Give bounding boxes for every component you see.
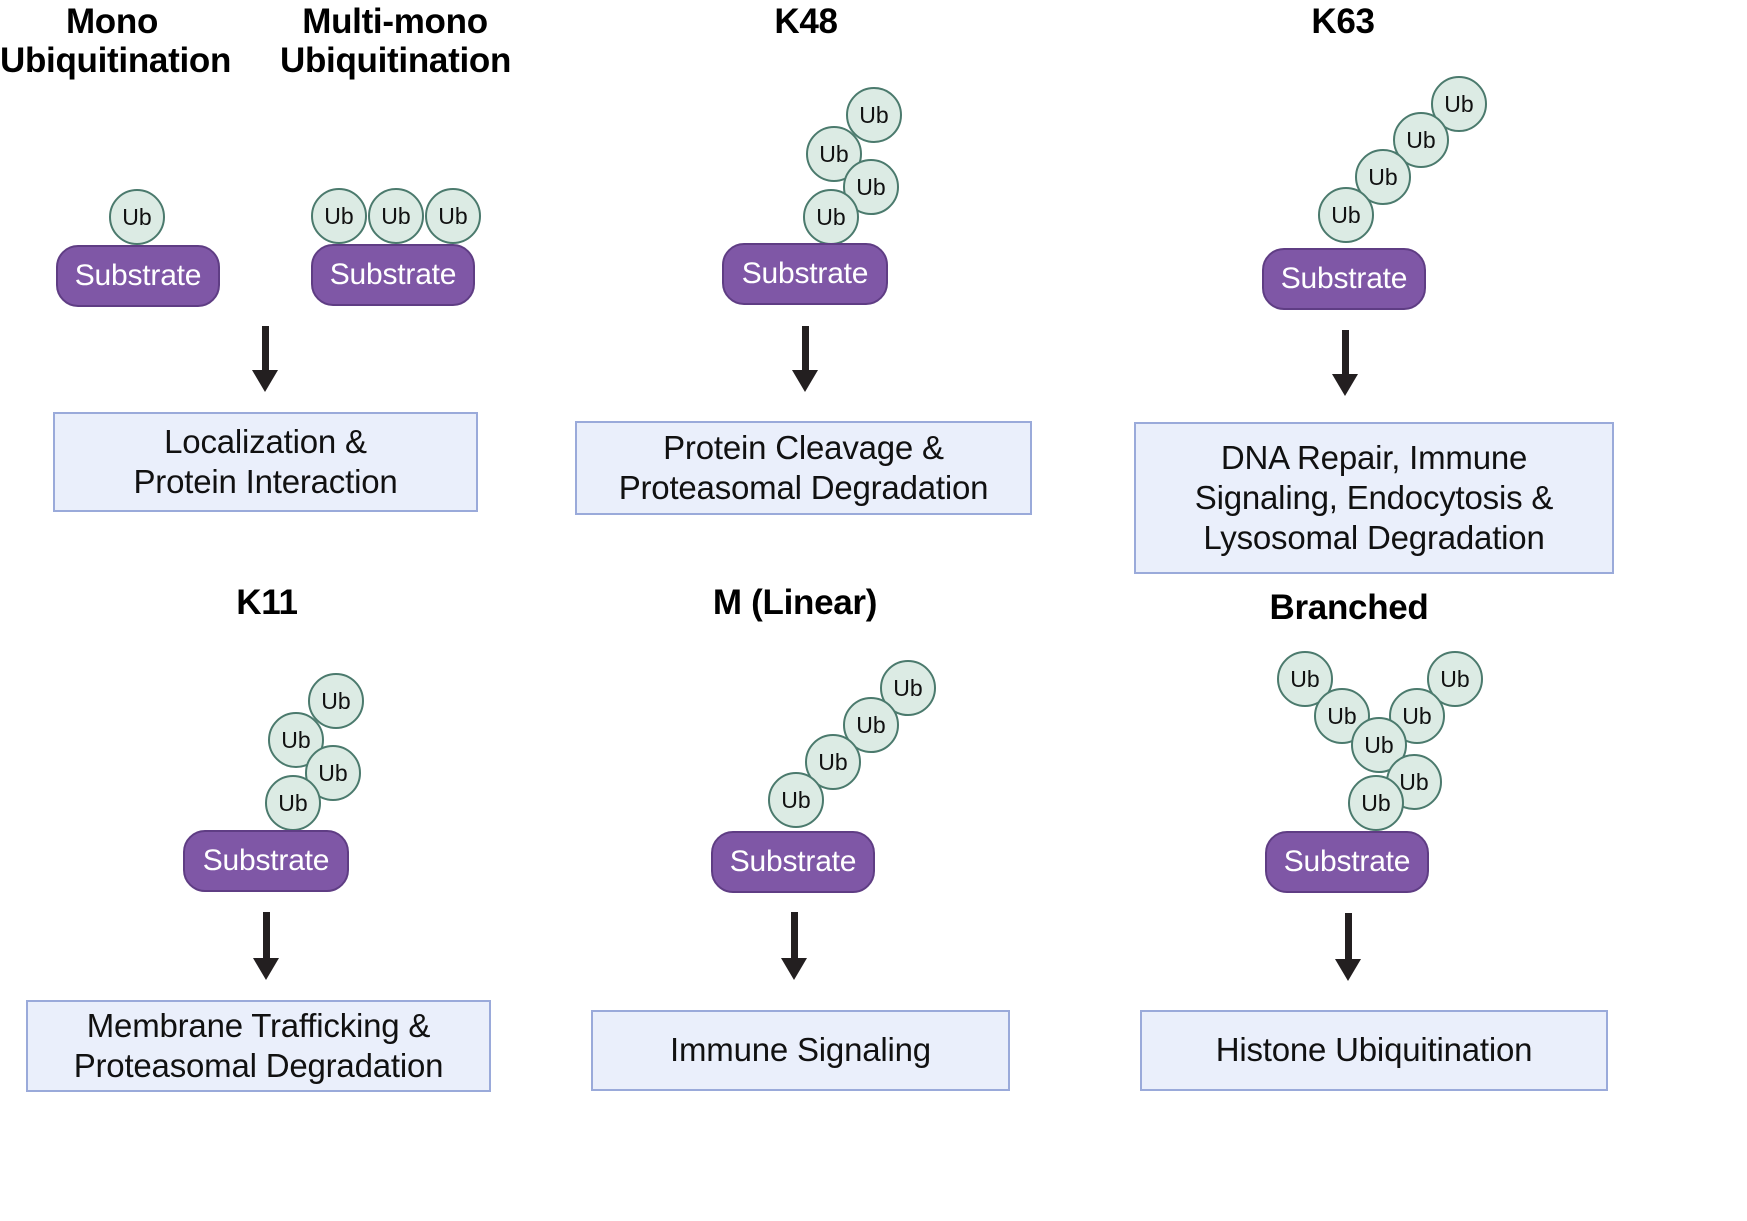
panel-title-m-linear: M (Linear)	[689, 583, 901, 622]
flow-arrow-k11	[259, 912, 273, 980]
substrate-label: Substrate	[742, 257, 869, 291]
ub-label: Ub	[1402, 703, 1431, 730]
ub-label: Ub	[324, 203, 353, 230]
ub-label: Ub	[859, 102, 888, 129]
ub-label: Ub	[281, 727, 310, 754]
ub-label: Ub	[1361, 790, 1390, 817]
panel-title-mono: Mono Ubiquitination	[0, 2, 224, 80]
ub-label: Ub	[816, 204, 845, 231]
substrate-pill-branched: Substrate	[1265, 831, 1429, 893]
ub-label: Ub	[781, 787, 810, 814]
ub-label: Ub	[381, 203, 410, 230]
panel-title-multi-mono: Multi-mono Ubiquitination	[280, 2, 510, 80]
panel-title-branched: Branched	[1243, 588, 1455, 627]
ub-label: Ub	[1368, 164, 1397, 191]
ub-label: Ub	[122, 204, 151, 231]
ub-label: Ub	[278, 790, 307, 817]
outcome-box-k63: DNA Repair, Immune Signaling, Endocytosi…	[1134, 422, 1614, 574]
substrate-pill-multi-mono: Substrate	[311, 244, 475, 306]
ub-circle: Ub	[425, 188, 481, 244]
ub-label: Ub	[321, 688, 350, 715]
ub-label: Ub	[893, 675, 922, 702]
ub-label: Ub	[318, 760, 347, 787]
ub-label: Ub	[819, 141, 848, 168]
ub-label: Ub	[1406, 127, 1435, 154]
outcome-box-localization: Localization & Protein Interaction	[53, 412, 478, 512]
substrate-pill-k48: Substrate	[722, 243, 888, 305]
ub-circle: Ub	[768, 772, 824, 828]
substrate-label: Substrate	[203, 844, 330, 878]
ub-label: Ub	[438, 203, 467, 230]
flow-arrow-m-linear	[787, 912, 801, 980]
substrate-pill-mono: Substrate	[56, 245, 220, 307]
substrate-pill-k11: Substrate	[183, 830, 349, 892]
ub-label: Ub	[1399, 769, 1428, 796]
ub-circle: Ub	[368, 188, 424, 244]
ub-label: Ub	[1440, 666, 1469, 693]
ub-circle: Ub	[109, 189, 165, 245]
substrate-label: Substrate	[1281, 262, 1408, 296]
ub-circle: Ub	[311, 188, 367, 244]
outcome-box-k11: Membrane Trafficking & Proteasomal Degra…	[26, 1000, 491, 1092]
ub-circle: Ub	[1348, 775, 1404, 831]
ub-label: Ub	[1444, 91, 1473, 118]
flow-arrow-row1-left	[258, 326, 272, 392]
panel-title-k63: K63	[1237, 2, 1449, 41]
substrate-pill-k63: Substrate	[1262, 248, 1426, 310]
ub-label: Ub	[1327, 703, 1356, 730]
ub-label: Ub	[1331, 202, 1360, 229]
ub-label: Ub	[818, 749, 847, 776]
ub-label: Ub	[856, 174, 885, 201]
ub-label: Ub	[1364, 732, 1393, 759]
ub-circle: Ub	[1318, 187, 1374, 243]
substrate-label: Substrate	[330, 258, 457, 292]
ub-circle: Ub	[803, 189, 859, 245]
flow-arrow-k63	[1338, 330, 1352, 396]
ub-label: Ub	[1290, 666, 1319, 693]
panel-title-k48: K48	[700, 2, 912, 41]
panel-title-k11: K11	[161, 583, 373, 622]
outcome-box-m-linear: Immune Signaling	[591, 1010, 1010, 1091]
substrate-label: Substrate	[730, 845, 857, 879]
ub-circle: Ub	[265, 775, 321, 831]
ub-label: Ub	[856, 712, 885, 739]
substrate-label: Substrate	[1284, 845, 1411, 879]
outcome-box-k48: Protein Cleavage & Proteasomal Degradati…	[575, 421, 1032, 515]
substrate-label: Substrate	[75, 259, 202, 293]
flow-arrow-branched	[1341, 913, 1355, 981]
substrate-pill-m-linear: Substrate	[711, 831, 875, 893]
outcome-box-branched: Histone Ubiquitination	[1140, 1010, 1608, 1091]
flow-arrow-k48	[798, 326, 812, 392]
